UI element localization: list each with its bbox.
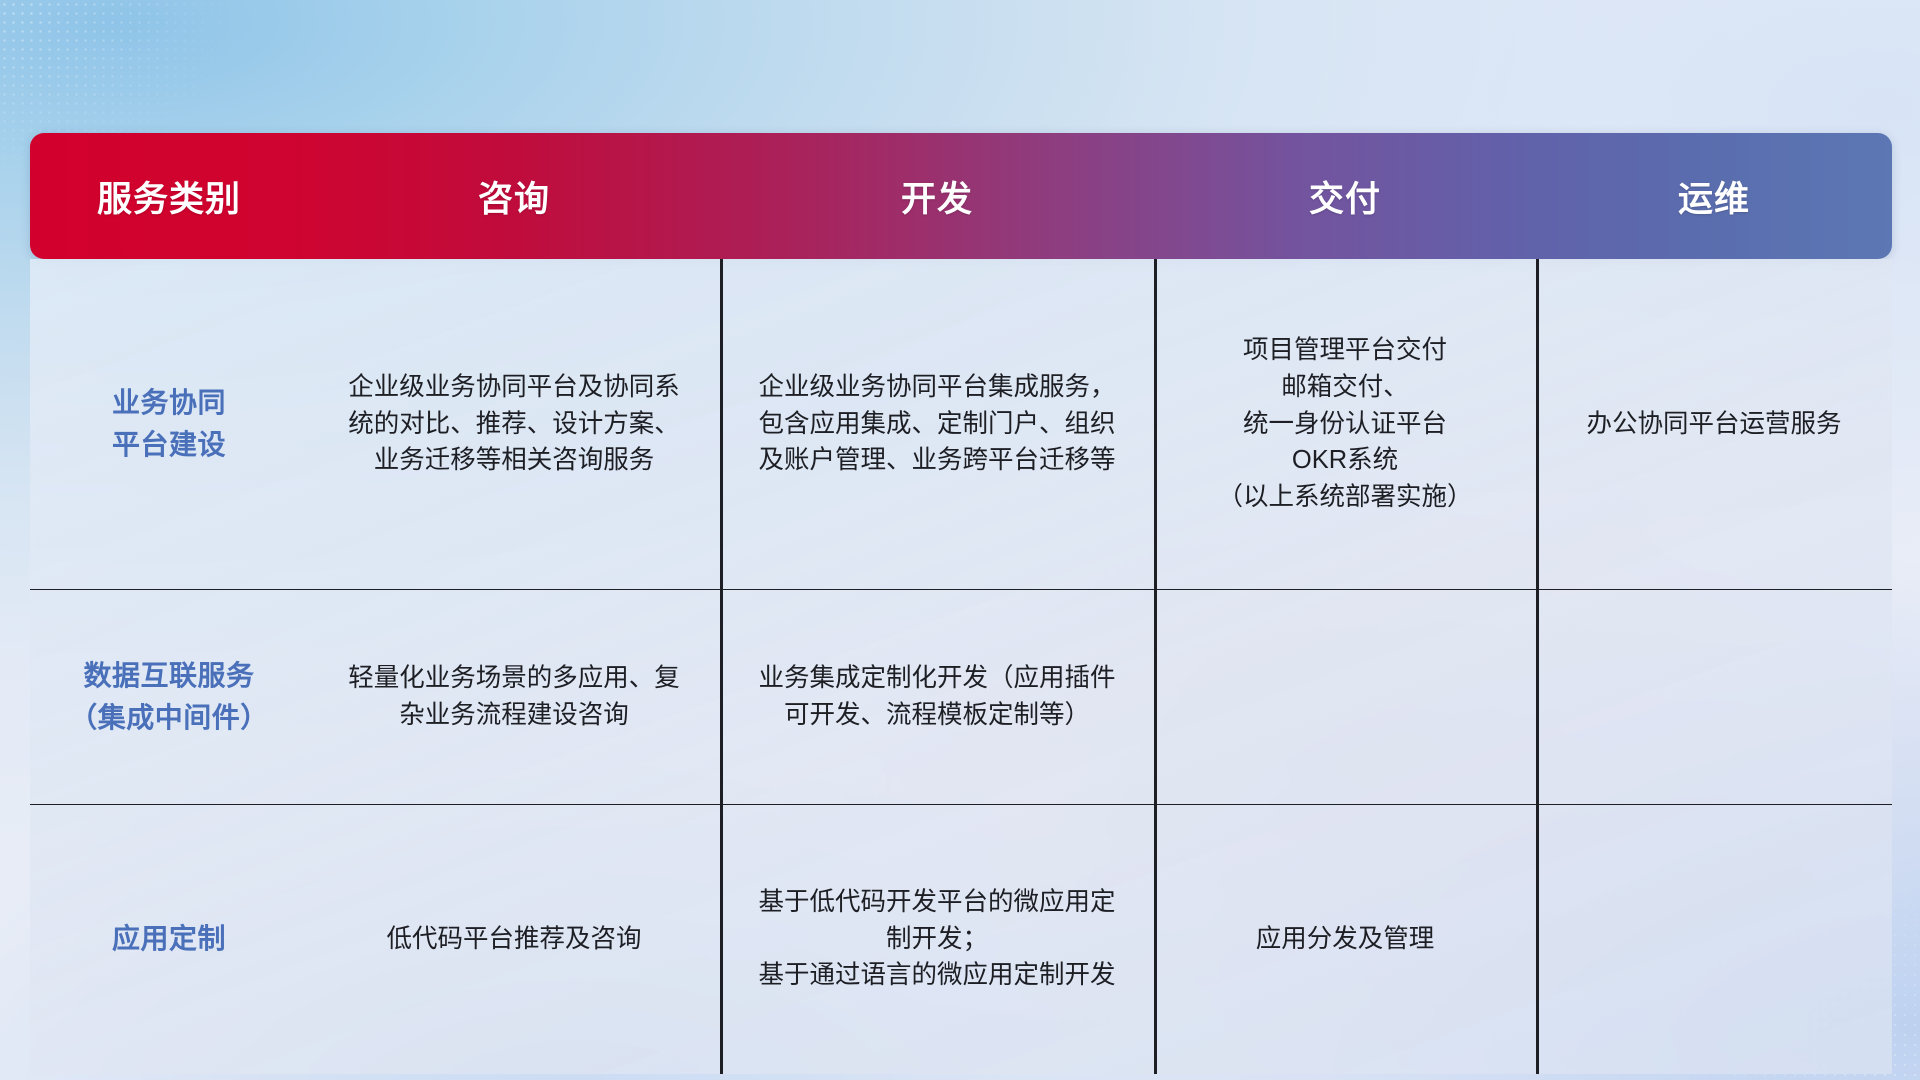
column-divider-3	[1536, 259, 1539, 1074]
column-divider-2	[1154, 259, 1157, 1074]
table-row: 业务协同 平台建设 企业级业务协同平台及协同系 统的对比、推荐、设计方案、 业务…	[30, 259, 1892, 589]
cell-operations	[1536, 589, 1892, 804]
cell-delivery: 应用分发及管理	[1154, 804, 1536, 1074]
cell-delivery	[1154, 589, 1536, 804]
cell-consulting: 低代码平台推荐及咨询	[308, 804, 720, 1074]
cell-delivery: 项目管理平台交付 邮箱交付、 统一身份认证平台 OKR系统 （以上系统部署实施）	[1154, 259, 1536, 589]
row-category-label: 业务协同 平台建设	[30, 259, 308, 589]
cell-operations: 办公协同平台运营服务	[1536, 259, 1892, 589]
service-category-table: 服务类别 咨询 开发 交付 运维 业务协同 平台建设 企业级业务协同平台及协同系…	[30, 133, 1892, 1074]
row-category-label: 应用定制	[30, 804, 308, 1074]
cell-consulting: 轻量化业务场景的多应用、复 杂业务流程建设咨询	[308, 589, 720, 804]
column-divider-1	[720, 259, 723, 1074]
row-category-label: 数据互联服务 （集成中间件）	[30, 589, 308, 804]
column-header-category: 服务类别	[30, 133, 308, 259]
column-header-development: 开发	[720, 133, 1154, 259]
column-header-delivery: 交付	[1154, 133, 1536, 259]
table-row: 应用定制 低代码平台推荐及咨询 基于低代码开发平台的微应用定 制开发； 基于通过…	[30, 804, 1892, 1074]
table-header-row: 服务类别 咨询 开发 交付 运维	[30, 133, 1892, 259]
column-header-operations: 运维	[1536, 133, 1892, 259]
column-header-consulting: 咨询	[308, 133, 720, 259]
cell-development: 基于低代码开发平台的微应用定 制开发； 基于通过语言的微应用定制开发	[720, 804, 1154, 1074]
cell-consulting: 企业级业务协同平台及协同系 统的对比、推荐、设计方案、 业务迁移等相关咨询服务	[308, 259, 720, 589]
table-row: 数据互联服务 （集成中间件） 轻量化业务场景的多应用、复 杂业务流程建设咨询 业…	[30, 589, 1892, 804]
cell-development: 业务集成定制化开发（应用插件 可开发、流程模板定制等）	[720, 589, 1154, 804]
cell-operations	[1536, 804, 1892, 1074]
table-body: 业务协同 平台建设 企业级业务协同平台及协同系 统的对比、推荐、设计方案、 业务…	[30, 259, 1892, 1074]
cell-development: 企业级业务协同平台集成服务， 包含应用集成、定制门户、组织 及账户管理、业务跨平…	[720, 259, 1154, 589]
